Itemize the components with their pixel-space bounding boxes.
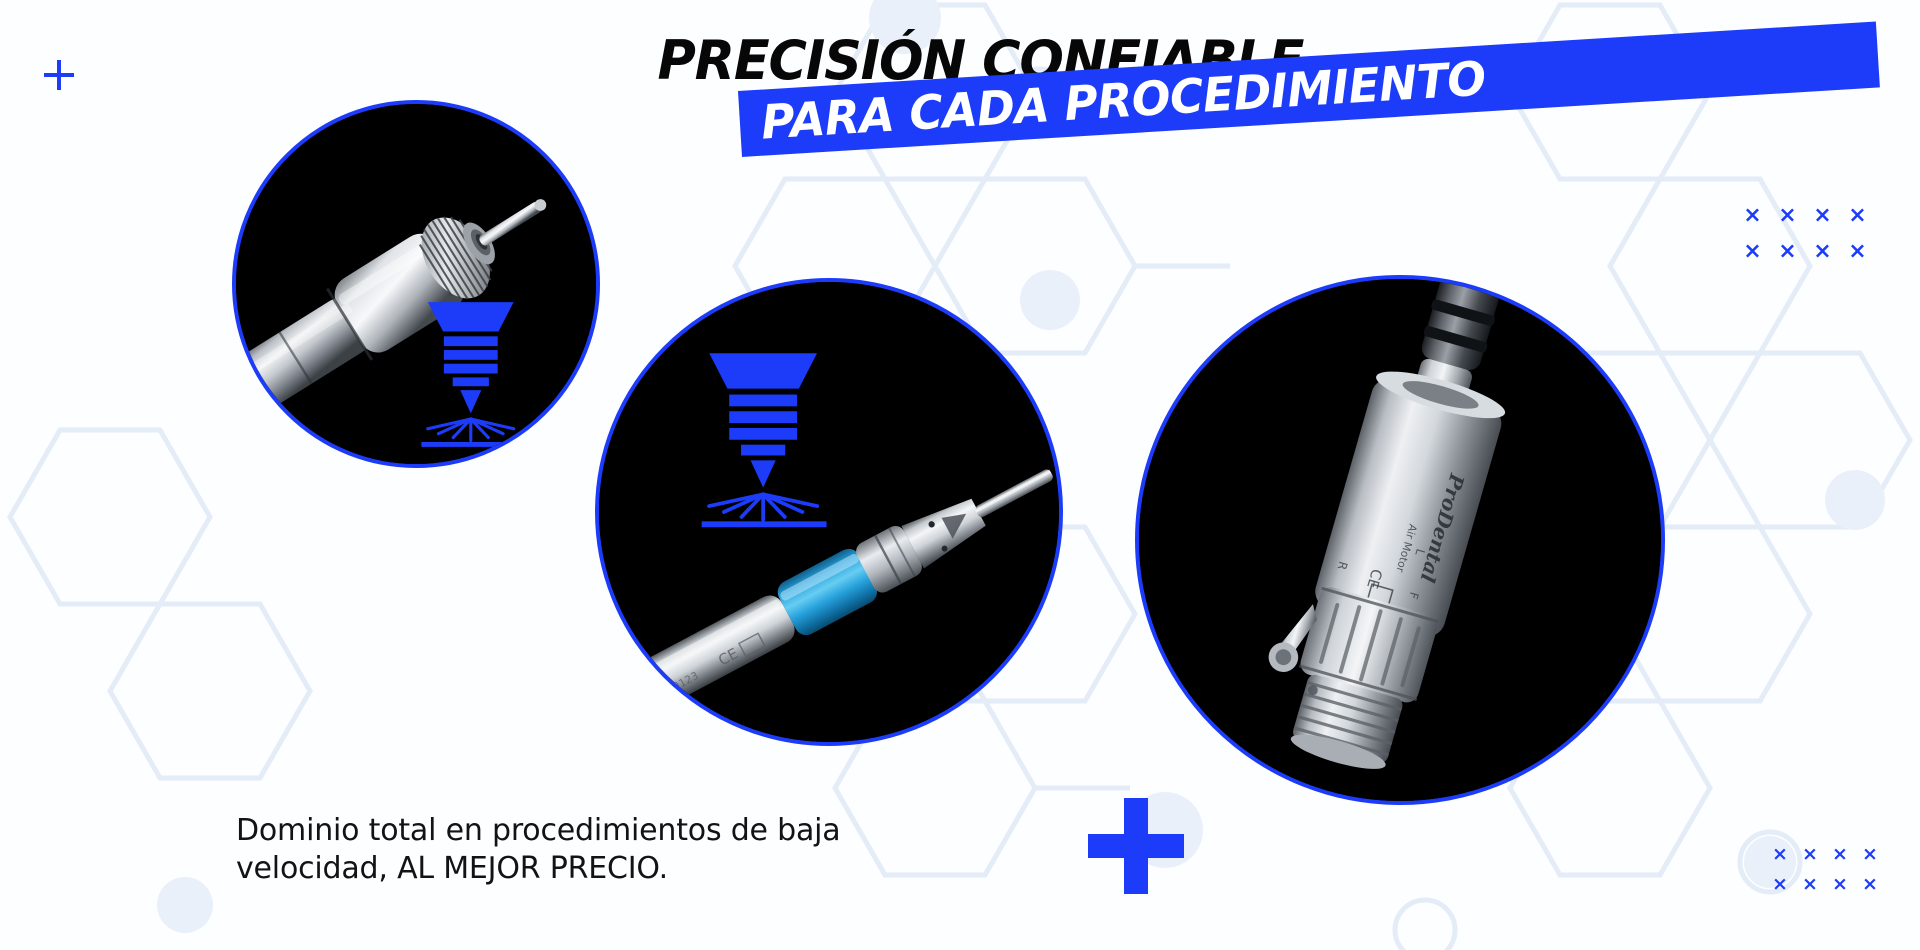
x-mark-icon: ×: [1765, 845, 1795, 875]
x-mark-icon: ×: [1765, 875, 1795, 905]
contra-angle-handpiece-image: [236, 104, 596, 464]
x-mark-icon: ×: [1770, 205, 1805, 241]
x-mark-icon: ×: [1840, 241, 1875, 277]
x-mark-icon: ×: [1840, 205, 1875, 241]
x-mark-icon: ×: [1805, 205, 1840, 241]
product-circle-straight-handpiece: 0123 CE: [595, 278, 1063, 746]
x-mark-icon: ×: [1855, 875, 1885, 905]
x-mark-icon: ×: [1825, 845, 1855, 875]
x-mark-icon: ×: [1805, 241, 1840, 277]
x-mark-icon: ×: [1855, 845, 1885, 875]
x-mark-icon: ×: [1735, 205, 1770, 241]
caption-text: Dominio total en procedimientos de baja …: [236, 812, 976, 889]
x-mark-icon: ×: [1825, 875, 1855, 905]
x-mark-icon: ×: [1795, 875, 1825, 905]
headline-block: PRECISIÓN CONFIABLE PARA CADA PROCEDIMIE…: [640, 34, 1880, 88]
straight-handpiece-image: 0123 CE: [599, 282, 1059, 742]
banner-stage: PRECISIÓN CONFIABLE PARA CADA PROCEDIMIE…: [0, 0, 1920, 950]
product-circle-air-motor: ProDental Air Motor CE L R F: [1135, 275, 1665, 805]
air-motor-image: ProDental Air Motor CE L R F: [1139, 279, 1661, 801]
plus-mark-large-icon: [1088, 798, 1184, 894]
plus-mark-small-icon: [44, 60, 74, 90]
x-mark-grid-bottom: × × × × × × × ×: [1765, 845, 1885, 905]
x-mark-grid-top: × × × × × × × ×: [1735, 205, 1875, 277]
product-circle-contra-angle: [232, 100, 600, 468]
x-mark-icon: ×: [1770, 241, 1805, 277]
x-mark-icon: ×: [1735, 241, 1770, 277]
headline-banner-row: PARA CADA PROCEDIMIENTO: [740, 91, 1880, 177]
x-mark-icon: ×: [1795, 845, 1825, 875]
